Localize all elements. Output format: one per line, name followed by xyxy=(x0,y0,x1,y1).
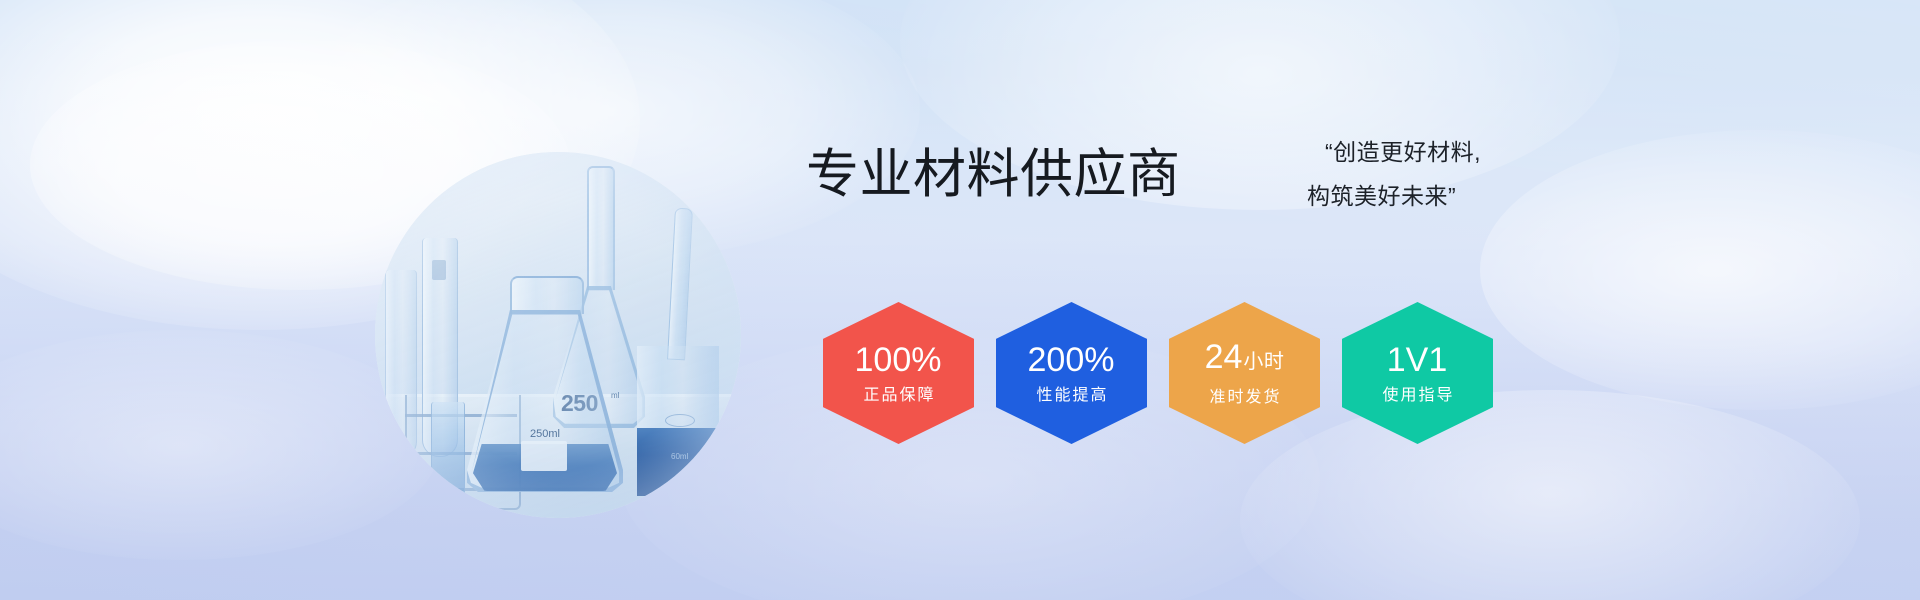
feature-value-big: 200% xyxy=(1028,341,1115,379)
feature-value: 1V1 xyxy=(1387,341,1449,379)
feature-badge-guidance[interactable]: 1V1 使用指导 xyxy=(1342,302,1493,444)
feature-label: 准时发货 xyxy=(1207,388,1281,408)
feature-badge-quality[interactable]: 100% 正品保障 xyxy=(823,302,974,444)
feature-value-big: 1V1 xyxy=(1387,341,1448,379)
brand-slogan: “创造更好材料, 构筑美好未来” xyxy=(1307,130,1537,218)
slogan-line-1: “创造更好材料, xyxy=(1307,130,1537,174)
photo-sheen-overlay xyxy=(375,152,741,518)
feature-label: 使用指导 xyxy=(1380,386,1454,406)
page-title: 专业材料供应商 xyxy=(806,144,1181,206)
feature-value: 200% xyxy=(1028,341,1116,379)
feature-value: 100% xyxy=(855,341,943,379)
feature-label: 性能提高 xyxy=(1034,386,1108,406)
sky-haze-overlay xyxy=(0,0,1920,600)
feature-badge-row: 100% 正品保障 200% 性能提高 24小时 准时发货 1V1 使用指导 xyxy=(823,302,1493,444)
slogan-line-2: 构筑美好未来” xyxy=(1307,174,1537,218)
feature-badge-performance[interactable]: 200% 性能提高 xyxy=(996,302,1147,444)
lab-glassware-photo: 250 ml 250ml 60ml xyxy=(375,152,741,518)
feature-value-small: 小时 xyxy=(1243,343,1284,381)
hero-banner: 250 ml 250ml 60ml 专业材料供应商 “创造更好材料, 构筑美好未… xyxy=(0,0,1920,600)
feature-value-big: 24 xyxy=(1205,338,1243,376)
feature-value: 24小时 xyxy=(1205,338,1285,381)
feature-label: 正品保障 xyxy=(861,386,935,406)
feature-badge-shipping[interactable]: 24小时 准时发货 xyxy=(1169,302,1320,444)
feature-value-big: 100% xyxy=(855,341,942,379)
